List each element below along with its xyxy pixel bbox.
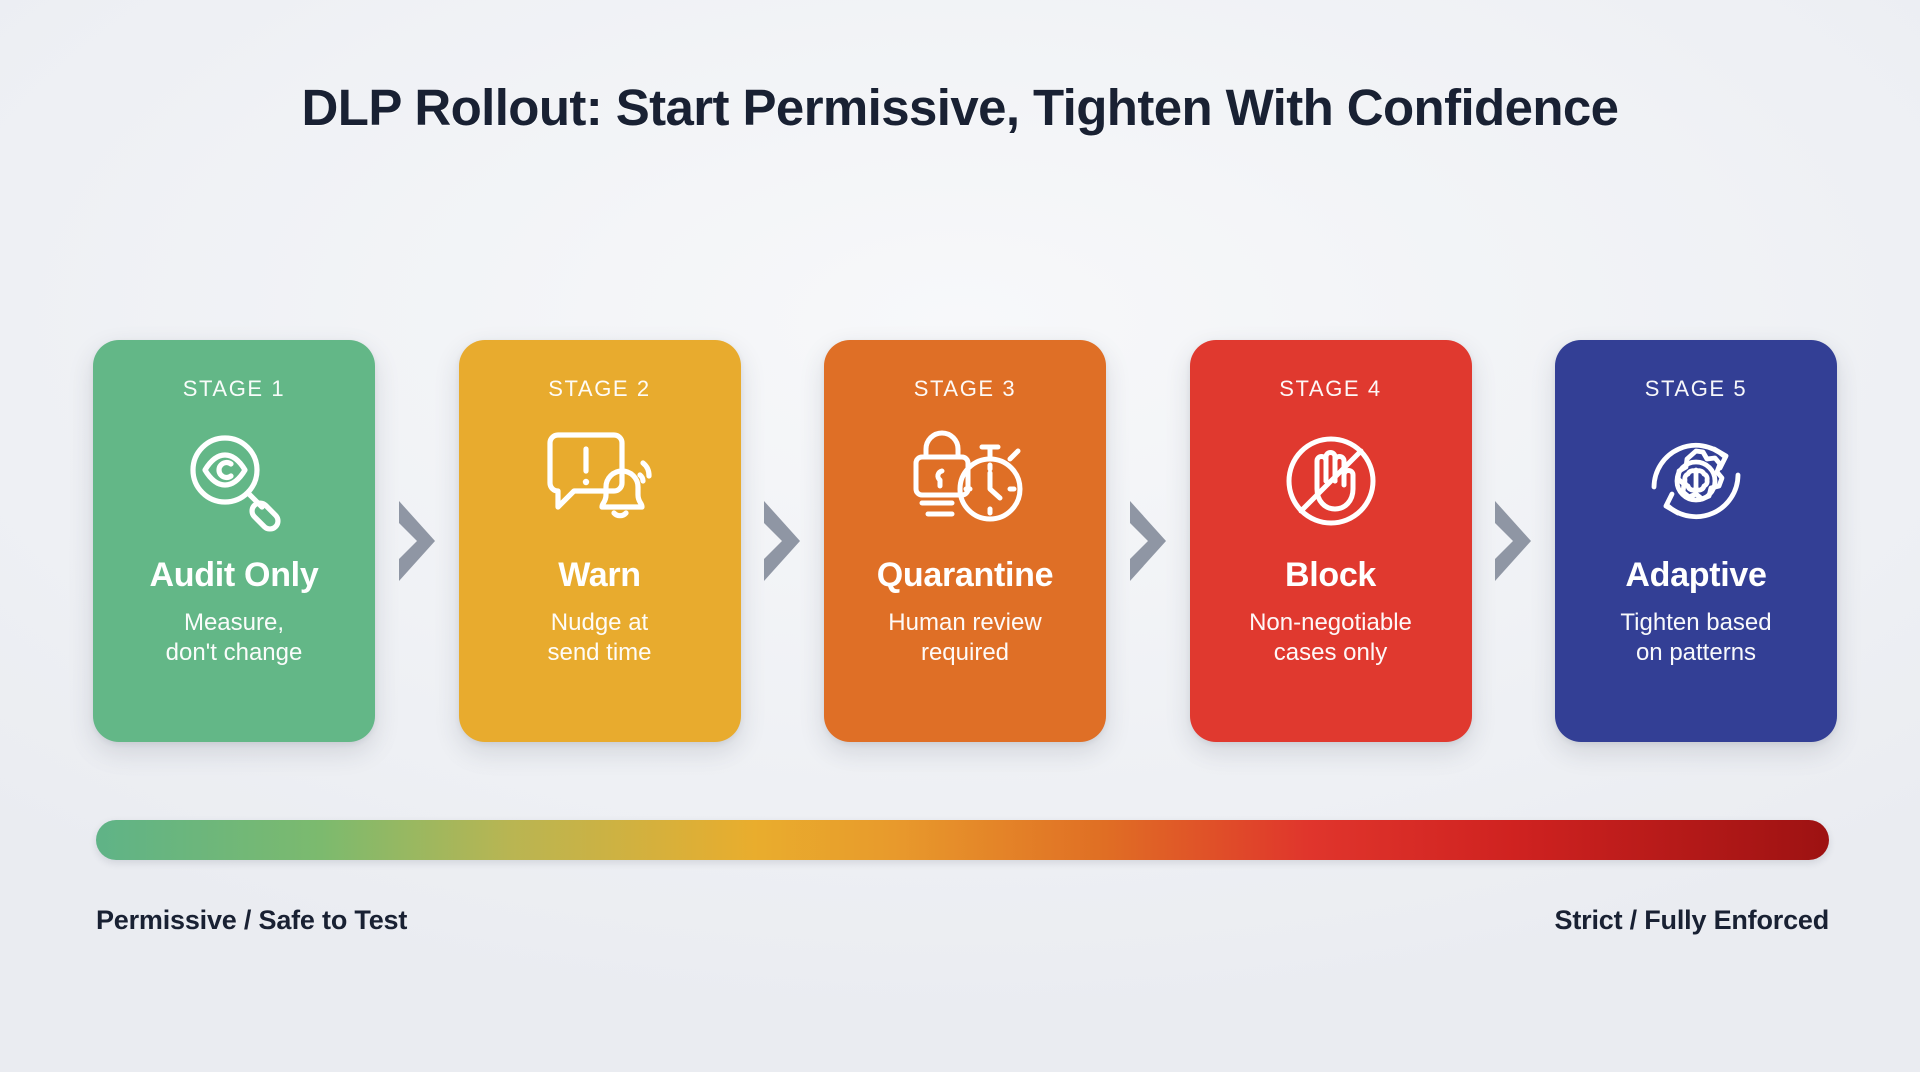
stage-card-2-stage-label: STAGE 2 [548,376,651,402]
padlock-stopwatch-icon [904,422,1026,540]
stage-card-5-stage-label: STAGE 5 [1645,376,1748,402]
chevron-right-icon [759,498,805,584]
infographic-page: DLP Rollout: Start Permissive, Tighten W… [0,0,1920,1072]
chevron-right-icon [1125,498,1171,584]
chevron-right-icon [1490,498,1536,584]
permissiveness-gradient-bar [96,820,1829,860]
stage-card-3-title: Quarantine [877,558,1053,594]
stage-card-4-description: Non-negotiable cases only [1237,608,1424,669]
stage-card-5-title: Adaptive [1625,558,1766,594]
stage-card-block[interactable]: STAGE 4 Block Non-negotiable cases only [1190,340,1472,742]
spectrum-right-label: Strict / Fully Enforced [1555,905,1829,936]
stage-card-4-stage-label: STAGE 4 [1279,376,1382,402]
stage-card-1-title: Audit Only [150,558,319,594]
page-title: DLP Rollout: Start Permissive, Tighten W… [0,78,1920,137]
stage-card-audit-only[interactable]: STAGE 1 Audit Only Measure, don't change [93,340,375,742]
speech-bubble-alert-bell-icon [540,422,660,540]
stage-card-4-title: Block [1285,558,1376,594]
chevron-right-icon [394,498,440,584]
gear-brain-refresh-icon [1638,422,1754,540]
stage-card-adaptive[interactable]: STAGE 5 Adaptive Tighten based on patter… [1555,340,1837,742]
stage-card-2-title: Warn [558,558,641,594]
spectrum-legend: Permissive / Safe to Test Strict / Fully… [96,905,1829,936]
magnifier-eye-icon [178,422,290,540]
stage-card-3-stage-label: STAGE 3 [914,376,1017,402]
stage-card-5-description: Tighten based on patterns [1608,608,1783,669]
stage-card-1-stage-label: STAGE 1 [183,376,286,402]
stage-sequence: STAGE 1 Audit Only Measure, don't change… [93,340,1837,742]
spectrum-left-label: Permissive / Safe to Test [96,905,407,936]
no-entry-hand-icon [1275,422,1387,540]
stage-card-1-description: Measure, don't change [154,608,315,669]
stage-card-2-description: Nudge at send time [535,608,663,669]
stage-card-3-description: Human review required [876,608,1053,669]
stage-card-warn[interactable]: STAGE 2 Warn Nudge at send time [459,340,741,742]
stage-card-quarantine[interactable]: STAGE 3 Quarantine Human review req [824,340,1106,742]
